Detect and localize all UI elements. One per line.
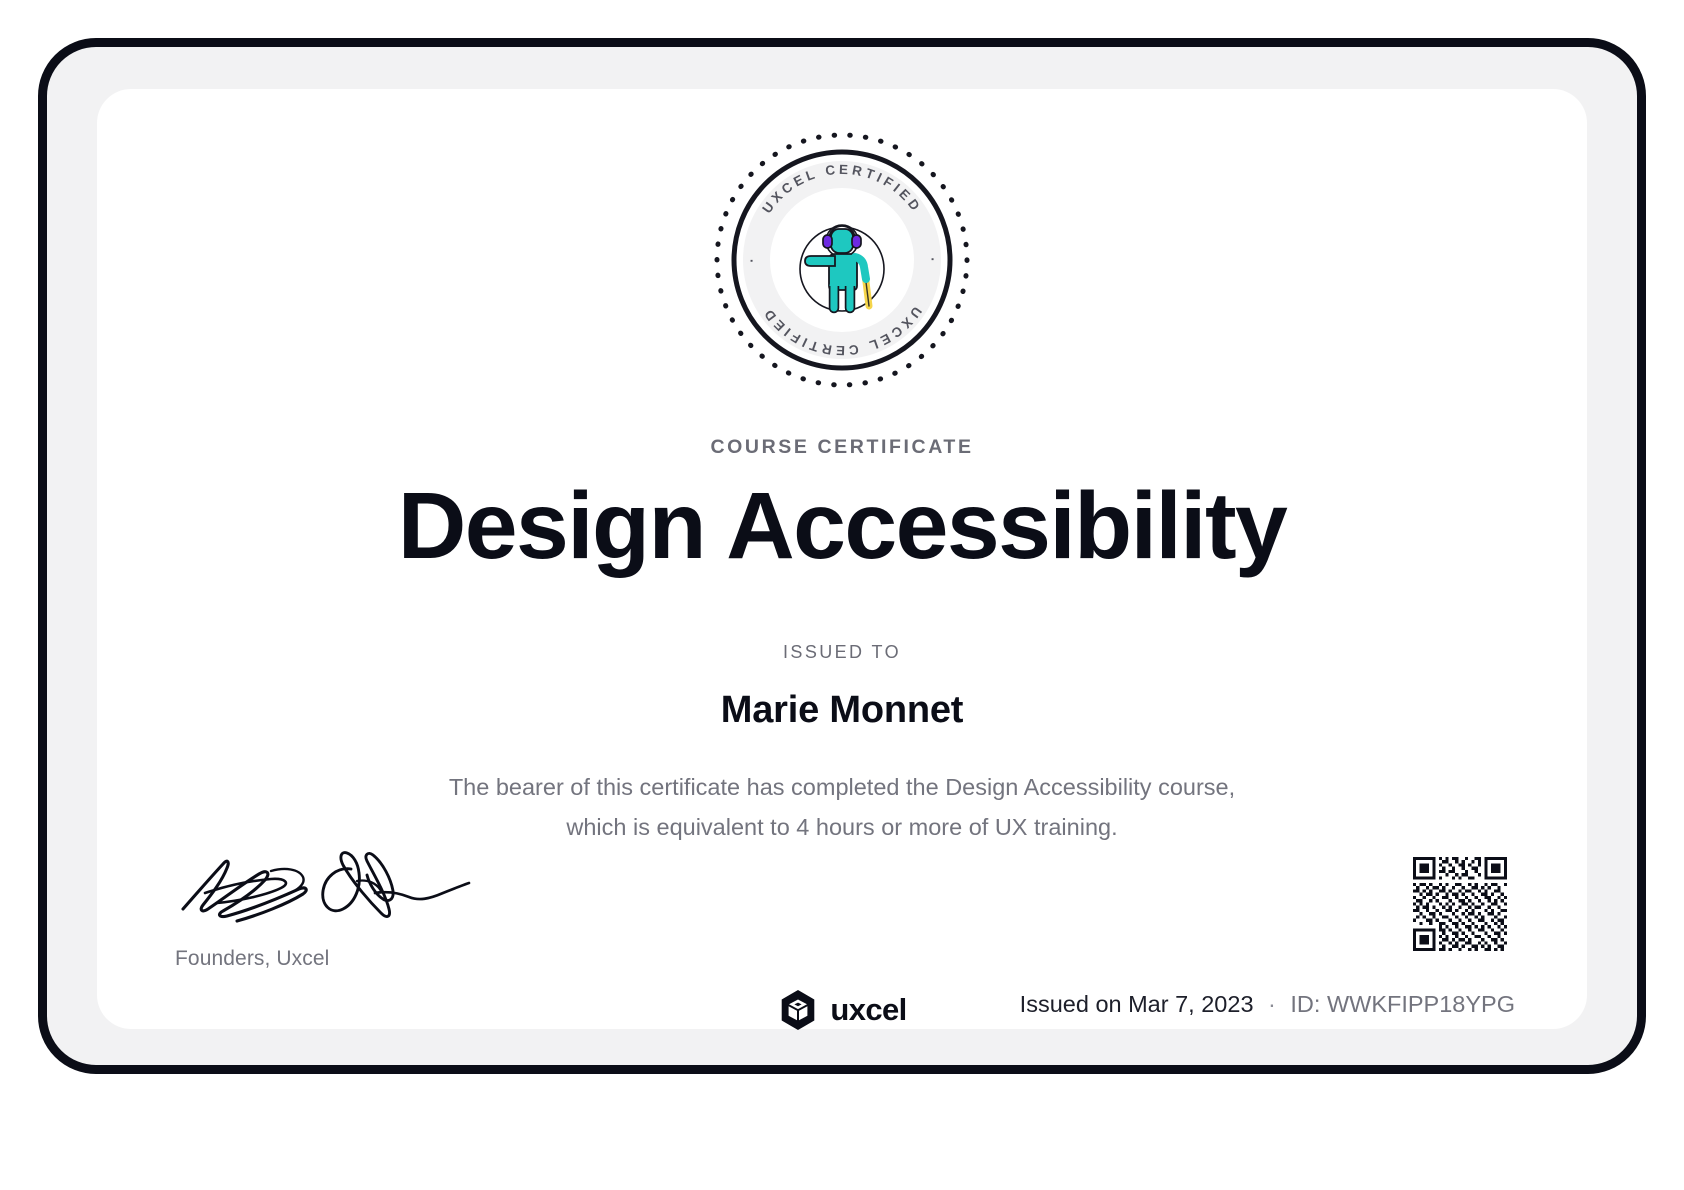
issued-to-label: ISSUED TO: [97, 642, 1587, 663]
uxcel-certified-badge: UXCEL CERTIFIED UXCEL CERTIFIED · ·: [711, 129, 973, 391]
headphone-cup-left: [823, 235, 832, 248]
verification-qr-code[interactable]: [1413, 857, 1507, 951]
svg-text:·: ·: [925, 257, 940, 265]
certificate-blurb: The bearer of this certificate has compl…: [412, 767, 1272, 848]
brand-name: uxcel: [830, 992, 906, 1028]
blurb-line-2: which is equivalent to 4 hours or more o…: [412, 807, 1272, 847]
certificate-card: UXCEL CERTIFIED UXCEL CERTIFIED · ·: [97, 89, 1587, 1029]
badge-container: UXCEL CERTIFIED UXCEL CERTIFIED · ·: [97, 129, 1587, 391]
issued-on-date: Issued on Mar 7, 2023: [1020, 991, 1254, 1017]
issue-info: Issued on Mar 7, 2023 · ID: WWKFIPP18YPG: [1020, 991, 1515, 1018]
page-eyebrow: COURSE CERTIFICATE: [97, 436, 1587, 459]
blurb-line-1: The bearer of this certificate has compl…: [412, 767, 1272, 807]
recipient-name: Marie Monnet: [97, 689, 1587, 732]
headphone-cup-right: [852, 235, 861, 248]
signature-block: Founders, Uxcel: [175, 847, 505, 971]
certificate-page: UXCEL CERTIFIED UXCEL CERTIFIED · ·: [0, 0, 1684, 1190]
signature-caption: Founders, Uxcel: [175, 947, 505, 971]
certificate-outer-frame: UXCEL CERTIFIED UXCEL CERTIFIED · ·: [38, 38, 1646, 1074]
svg-text:·: ·: [744, 254, 759, 262]
certificate-id: ID: WWKFIPP18YPG: [1290, 991, 1515, 1017]
info-separator: ·: [1260, 991, 1284, 1017]
founder-signatures-icon: [175, 847, 475, 929]
course-title: Design Accessibility: [97, 477, 1587, 576]
uxcel-hexagon-cube-logo: [777, 989, 819, 1031]
